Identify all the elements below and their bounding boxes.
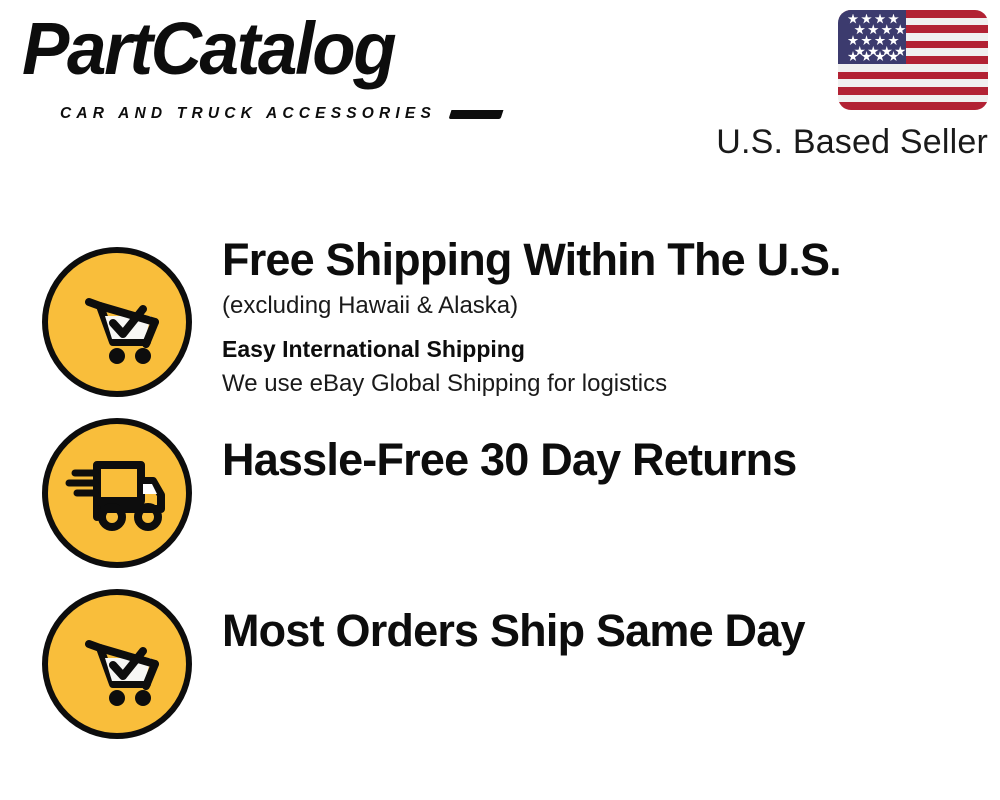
us-based-seller-badge: U.S. Based Seller [688, 10, 988, 161]
benefit-title: Free Shipping Within The U.S. [222, 236, 984, 285]
benefit-row: Hassle-Free 30 Day Returns [0, 384, 1000, 555]
shopping-cart-check-icon [42, 589, 192, 739]
brand-wordmark: PartCatalog [22, 12, 394, 86]
flag-stars [838, 10, 988, 110]
benefit-row: Free Shipping Within The U.S. (excluding… [0, 213, 1000, 384]
benefits-list: Free Shipping Within The U.S. (excluding… [0, 213, 1000, 726]
seller-badge-label: U.S. Based Seller [688, 124, 988, 161]
brand-logo: PartCatalog CAR AND TRUCK ACCESSORIES [22, 18, 492, 118]
logo-swoosh-accent [449, 110, 504, 119]
benefit-title: Most Orders Ship Same Day [222, 607, 984, 656]
benefit-title: Hassle-Free 30 Day Returns [222, 436, 984, 485]
shopping-cart-check-icon [42, 247, 192, 397]
benefit-text: Free Shipping Within The U.S. (excluding… [222, 236, 984, 399]
benefit-row: Most Orders Ship Same Day [0, 555, 1000, 726]
benefit-text: Hassle-Free 30 Day Returns [222, 436, 984, 485]
benefit-note: (excluding Hawaii & Alaska) [222, 291, 984, 321]
brand-tagline: CAR AND TRUCK ACCESSORIES [60, 106, 436, 122]
delivery-truck-icon [42, 418, 192, 568]
benefit-subtitle: Easy International Shipping [222, 335, 984, 364]
promo-banner: PartCatalog CAR AND TRUCK ACCESSORIES [0, 0, 1000, 800]
benefit-text: Most Orders Ship Same Day [222, 607, 984, 656]
us-flag-icon [838, 10, 988, 110]
